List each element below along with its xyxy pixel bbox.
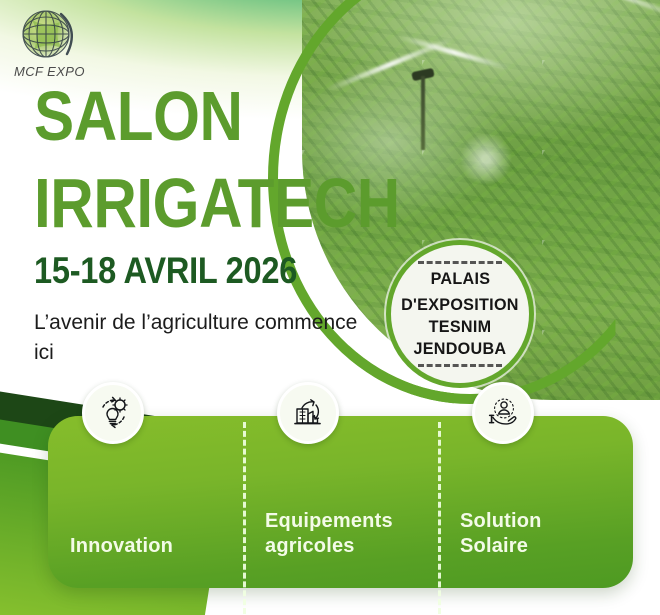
feature-label: Innovation — [70, 534, 225, 558]
factory-recycle-icon — [277, 382, 339, 444]
sprinkler-pole — [421, 76, 425, 150]
event-date: 15-18 AVRIL 2026 — [34, 250, 324, 292]
feature-label: Equipements agricoles — [265, 509, 420, 558]
poster-canvas: MCF EXPO SALON IRRIGATECH 15-18 AVRIL 20… — [0, 0, 660, 615]
headline-block: SALON IRRIGATECH 15-18 AVRIL 2026 L’aven… — [34, 84, 364, 368]
venue-line4: JENDOUBA — [408, 334, 512, 364]
feature-equipements-agricoles[interactable]: Equipements agricoles — [243, 416, 438, 588]
feature-innovation[interactable]: Innovation — [48, 416, 243, 588]
hand-holding-sun-person-icon — [472, 382, 534, 444]
page-title-line2: IRRIGATECH — [34, 171, 318, 236]
lightbulb-gear-cycle-icon — [82, 382, 144, 444]
venue-badge: PALAIS D'EXPOSITION TESNIM JENDOUBA — [386, 240, 534, 388]
feature-label: Solution Solaire — [460, 509, 615, 558]
brand-logo: MCF EXPO — [6, 6, 102, 86]
feature-solution-solaire[interactable]: Solution Solaire — [438, 416, 633, 588]
page-title-line1: SALON — [34, 84, 318, 149]
globe-grid-icon — [6, 6, 102, 66]
features-panel: Innovation — [48, 416, 633, 588]
badge-divider-bottom — [418, 364, 502, 367]
